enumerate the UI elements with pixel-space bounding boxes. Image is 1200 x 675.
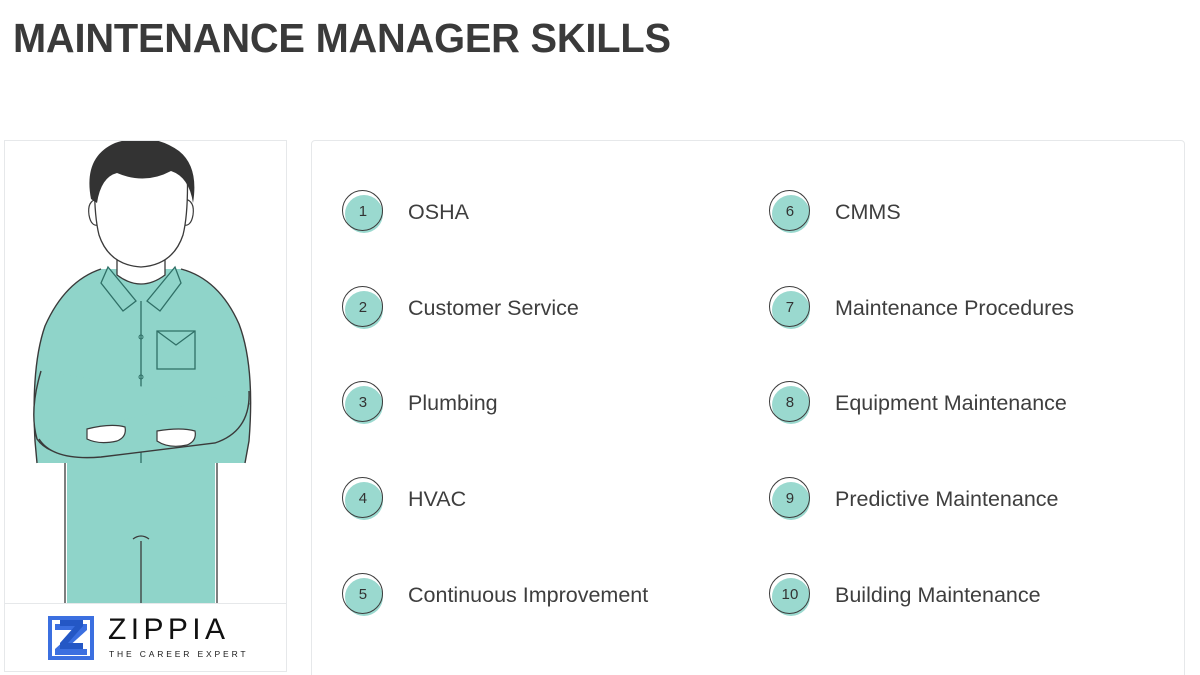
skill-label: Equipment Maintenance bbox=[835, 390, 1067, 416]
skill-item: 2 Customer Service bbox=[340, 282, 740, 334]
zippia-logo-mark bbox=[47, 615, 95, 661]
page-title: MAINTENANCE MANAGER SKILLS bbox=[13, 14, 671, 62]
skill-number-badge: 9 bbox=[767, 475, 815, 523]
skill-number-badge: 8 bbox=[767, 379, 815, 427]
skill-item: 7 Maintenance Procedures bbox=[767, 282, 1179, 334]
skill-label: Predictive Maintenance bbox=[835, 486, 1058, 512]
skill-label: HVAC bbox=[408, 486, 466, 512]
skill-number-badge: 3 bbox=[340, 379, 388, 427]
skill-number-badge: 2 bbox=[340, 284, 388, 332]
badge-number: 2 bbox=[340, 284, 386, 330]
badge-number: 7 bbox=[767, 284, 813, 330]
badge-number: 5 bbox=[340, 571, 386, 617]
skill-number-badge: 4 bbox=[340, 475, 388, 523]
skill-number-badge: 5 bbox=[340, 571, 388, 619]
skill-number-badge: 7 bbox=[767, 284, 815, 332]
infographic-page: MAINTENANCE MANAGER SKILLS bbox=[0, 0, 1200, 675]
badge-number: 1 bbox=[340, 188, 386, 234]
skill-label: Building Maintenance bbox=[835, 582, 1041, 608]
skill-item: 5 Continuous Improvement bbox=[340, 569, 740, 621]
skill-label: Maintenance Procedures bbox=[835, 295, 1074, 321]
skill-item: 8 Equipment Maintenance bbox=[767, 377, 1179, 429]
skill-label: Customer Service bbox=[408, 295, 579, 321]
badge-number: 10 bbox=[767, 571, 813, 617]
skill-label: OSHA bbox=[408, 199, 469, 225]
badge-number: 6 bbox=[767, 188, 813, 234]
zippia-logo[interactable]: ZIPPIA THE CAREER EXPERT bbox=[4, 603, 287, 672]
skill-item: 4 HVAC bbox=[340, 473, 740, 525]
skill-label: CMMS bbox=[835, 199, 901, 225]
badge-number: 8 bbox=[767, 379, 813, 425]
badge-number: 3 bbox=[340, 379, 386, 425]
skill-item: 1 OSHA bbox=[340, 186, 740, 238]
skill-item: 3 Plumbing bbox=[340, 377, 740, 429]
badge-number: 4 bbox=[340, 475, 386, 521]
skill-label: Plumbing bbox=[408, 390, 498, 416]
skill-item: 6 CMMS bbox=[767, 186, 1179, 238]
skill-number-badge: 10 bbox=[767, 571, 815, 619]
skill-number-badge: 6 bbox=[767, 188, 815, 236]
maintenance-worker-illustration bbox=[5, 141, 287, 603]
skill-label: Continuous Improvement bbox=[408, 582, 648, 608]
skills-list: 1 OSHA 2 Customer Service 3 Plumbing bbox=[312, 141, 1186, 675]
skills-card: 1 OSHA 2 Customer Service 3 Plumbing bbox=[311, 140, 1185, 675]
zippia-logo-text: ZIPPIA THE CAREER EXPERT bbox=[108, 615, 248, 660]
badge-number: 9 bbox=[767, 475, 813, 521]
skill-item: 9 Predictive Maintenance bbox=[767, 473, 1179, 525]
zippia-wordmark: ZIPPIA bbox=[108, 615, 229, 645]
illustration-panel bbox=[4, 140, 287, 603]
skill-item: 10 Building Maintenance bbox=[767, 569, 1179, 621]
zippia-tagline: THE CAREER EXPERT bbox=[109, 648, 248, 660]
skill-number-badge: 1 bbox=[340, 188, 388, 236]
